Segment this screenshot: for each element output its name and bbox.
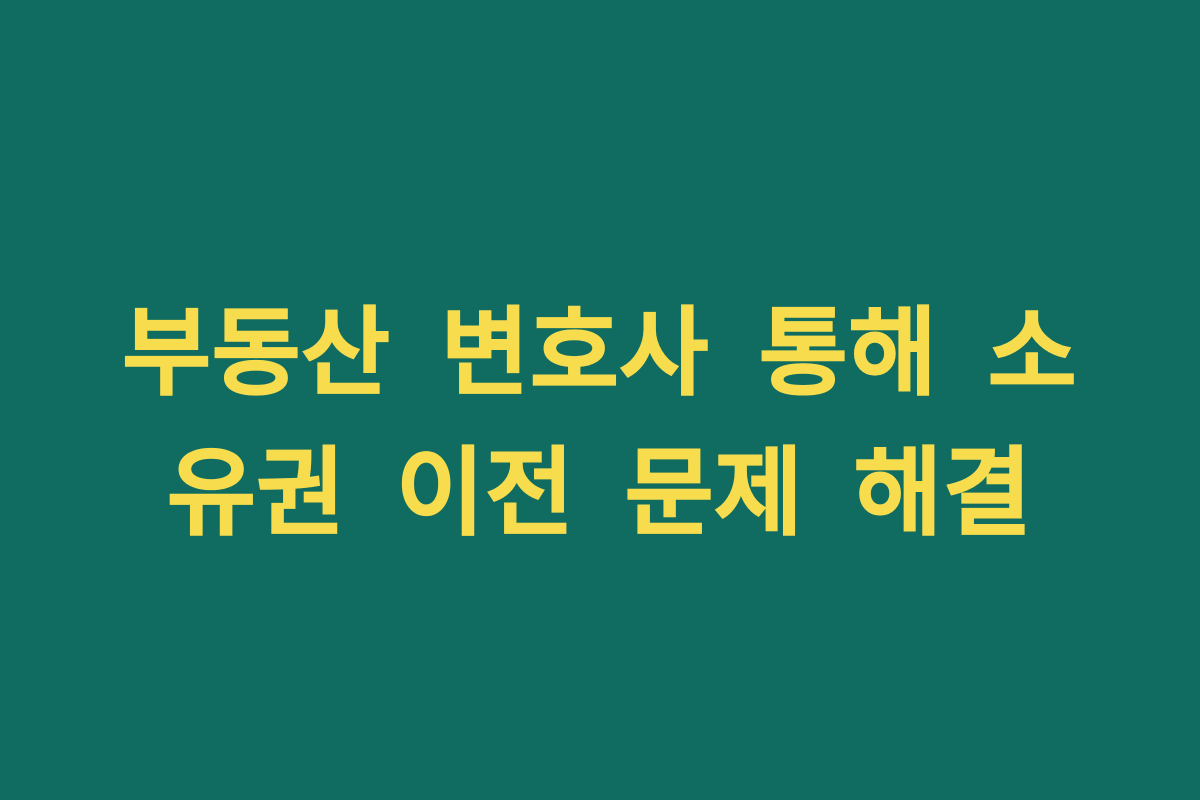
headline-line-1: 부동산 변호사 통해 소 (60, 283, 1140, 423)
headline-text-block: 부동산 변호사 통해 소 유권 이전 문제 해결 (0, 283, 1200, 563)
banner-canvas: 부동산 변호사 통해 소 유권 이전 문제 해결 (0, 0, 1200, 800)
headline-line-2: 유권 이전 문제 해결 (60, 423, 1140, 563)
